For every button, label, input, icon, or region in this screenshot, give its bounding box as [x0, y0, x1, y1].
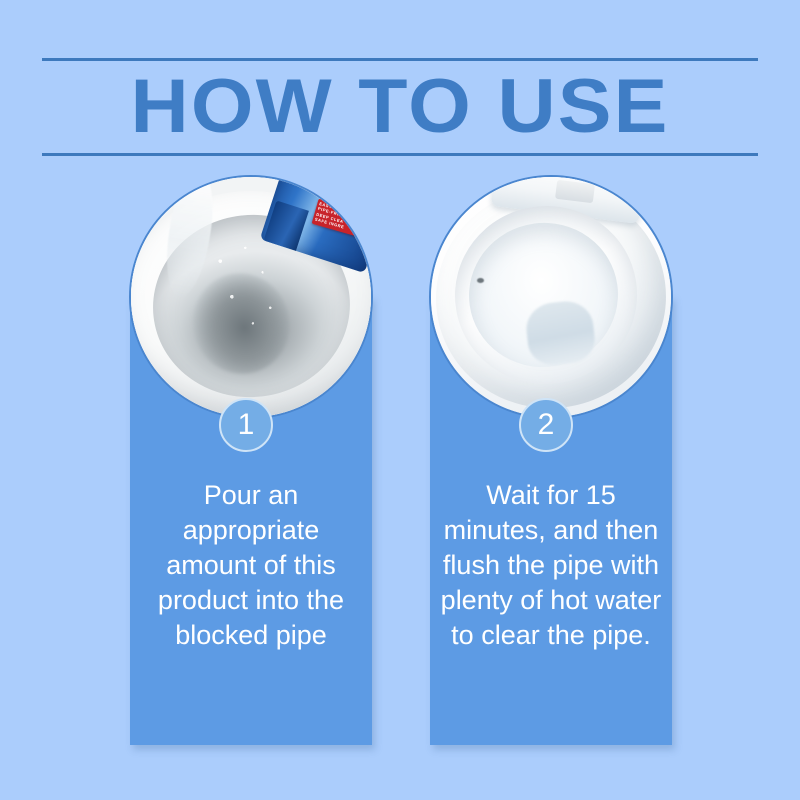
- step-2-description: Wait for 15 minutes, and then flush the …: [440, 478, 662, 653]
- header: HOW TO USE: [42, 58, 758, 158]
- header-rule-top: [42, 58, 758, 61]
- step-1-description: Pour an appropriate amount of this produ…: [140, 478, 362, 653]
- infographic-page: HOW TO USE DRAI EASY TO U PIPE-FRIE DEEP…: [0, 0, 800, 800]
- header-rule-bottom: [42, 153, 758, 156]
- step-2-photo: [429, 175, 673, 419]
- toilet-rim-hole: [477, 278, 484, 283]
- step-1-number-badge: 1: [219, 398, 273, 452]
- step-1-photo: DRAI EASY TO U PIPE-FRIE DEEP CLEA SAFE …: [129, 175, 373, 419]
- page-title: HOW TO USE: [21, 64, 780, 150]
- step-1-photo-image: DRAI EASY TO U PIPE-FRIE DEEP CLEA SAFE …: [131, 177, 371, 417]
- step-2-photo-image: [431, 177, 671, 417]
- water-droplets: [203, 239, 299, 349]
- step-2-number-badge: 2: [519, 398, 573, 452]
